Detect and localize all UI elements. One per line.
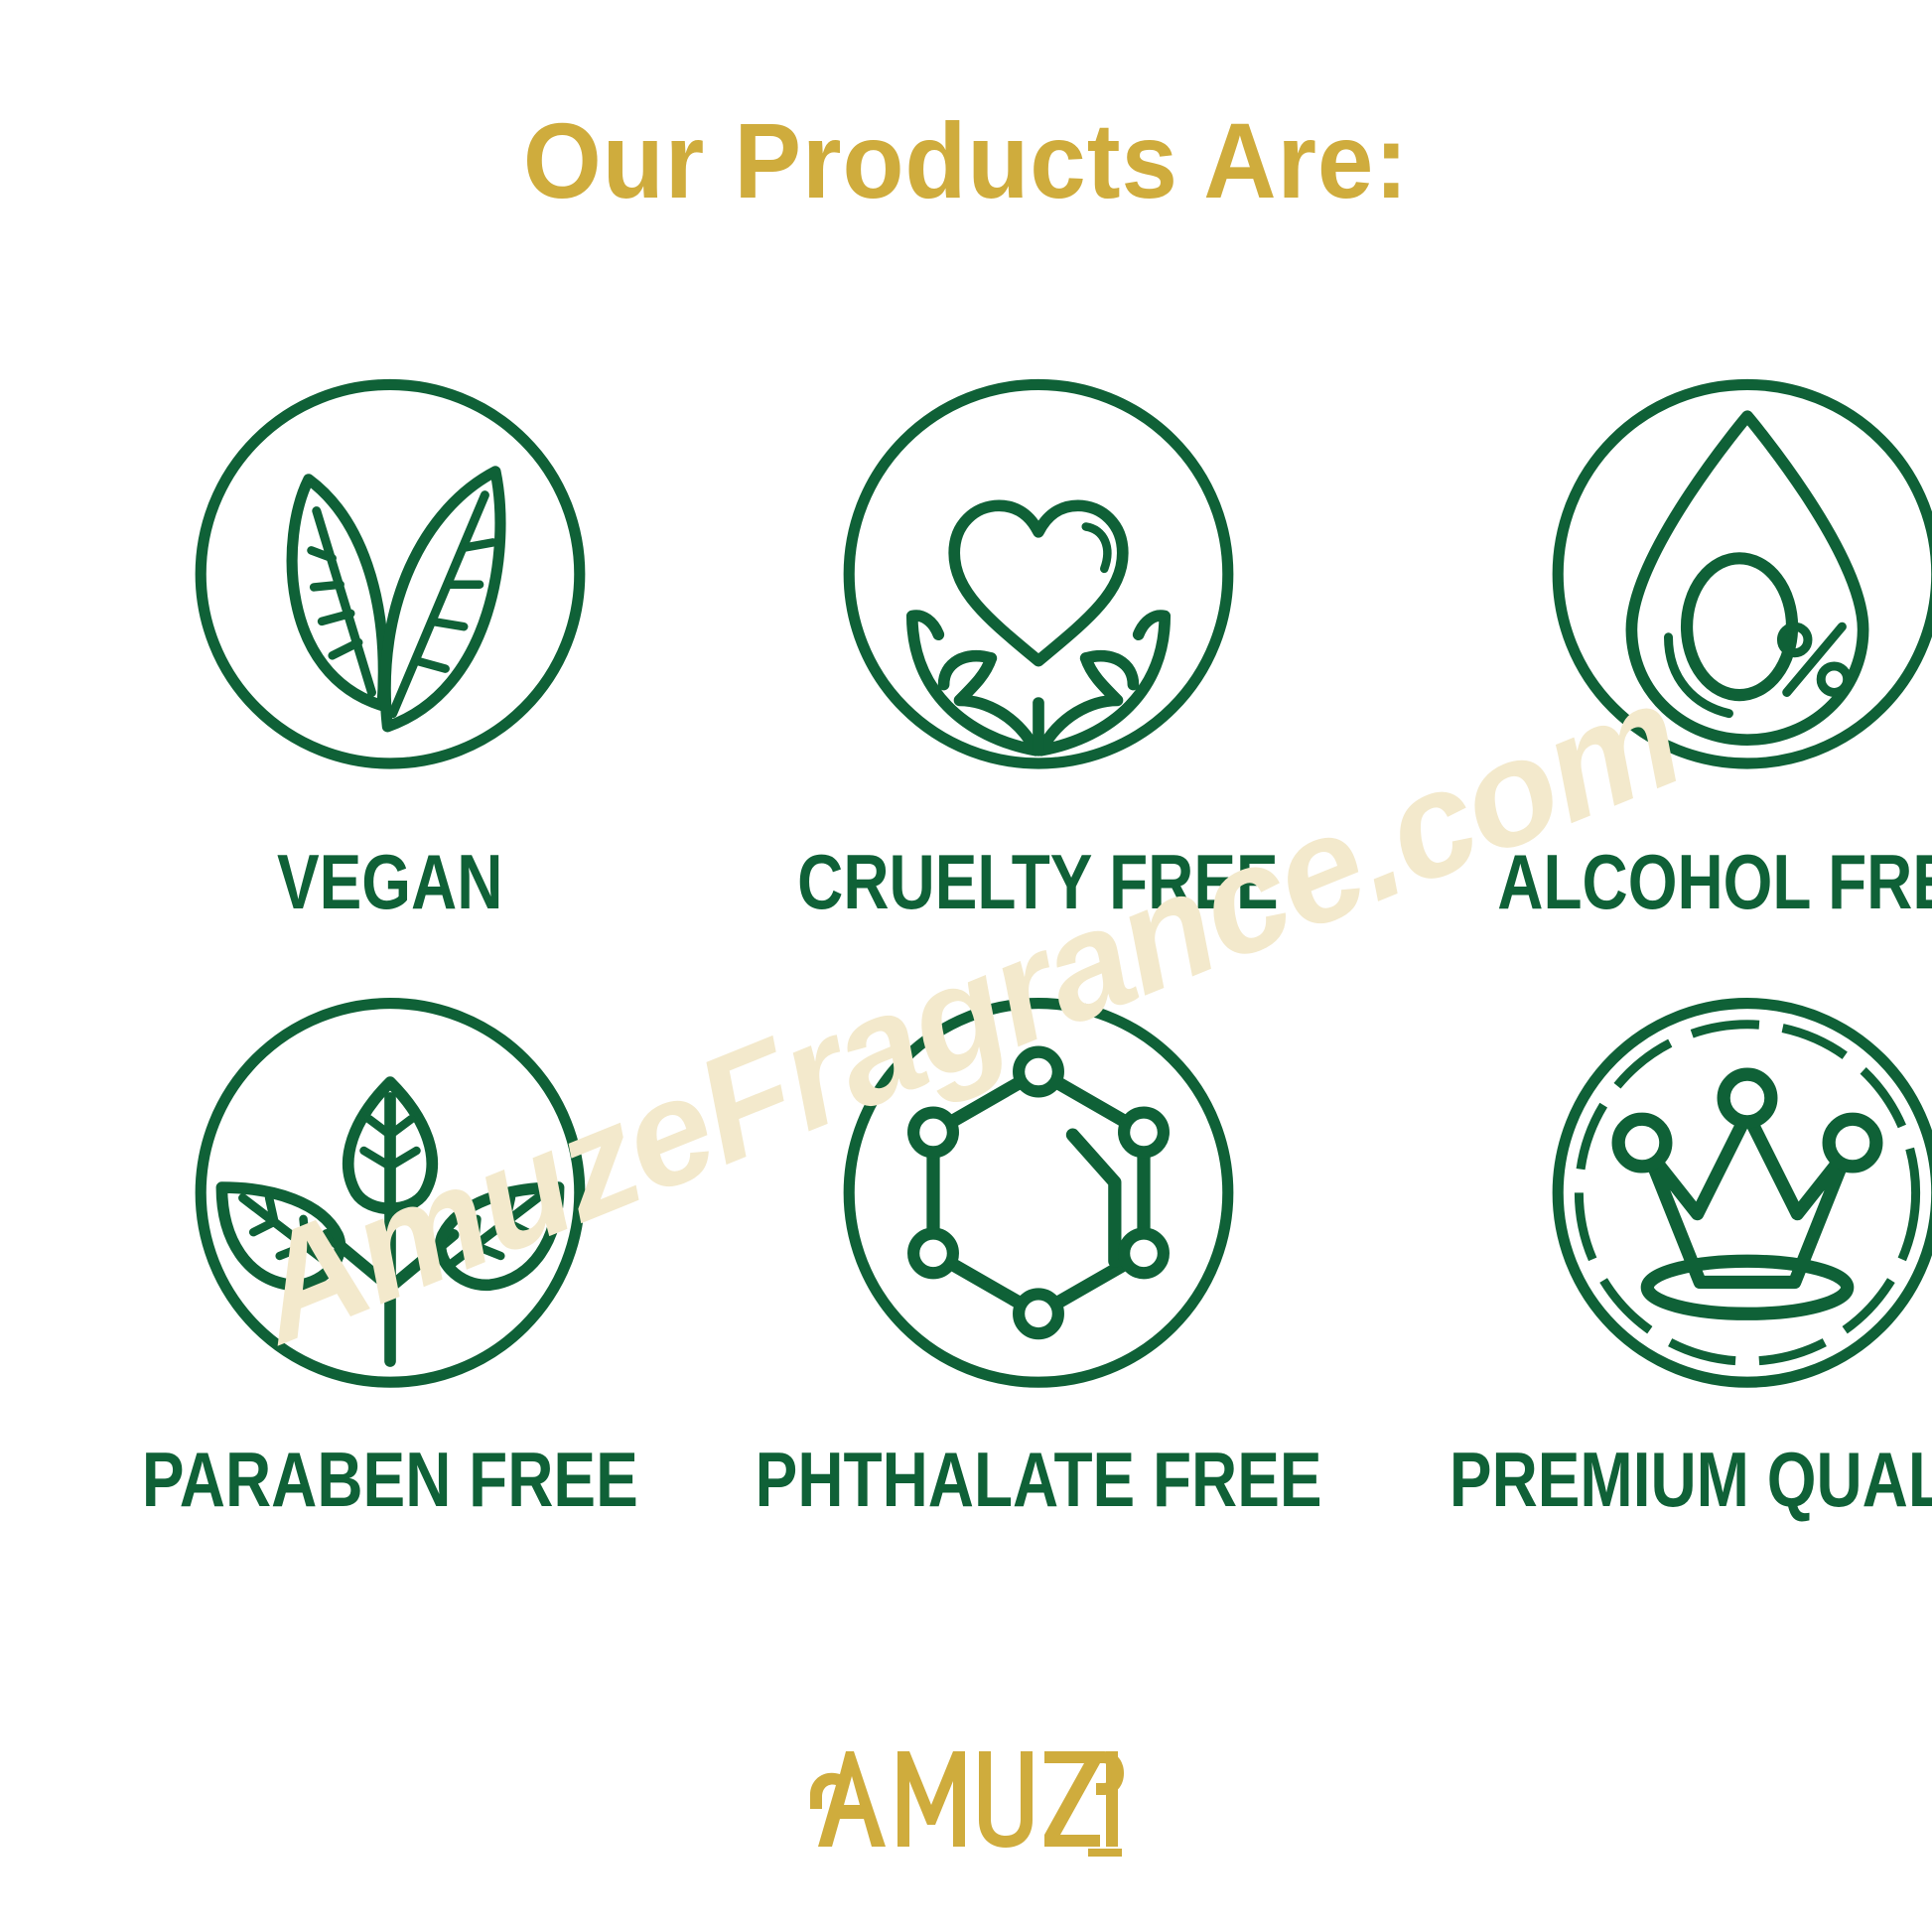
badge-label-phthalate-free: PHTHALATE FREE — [755, 1441, 1321, 1518]
badge-grid: VEGAN CRUELTY FREE — [87, 343, 1845, 1518]
badge-label-alcohol-free: ALCOHOL FREE — [1497, 843, 1932, 920]
badge-paraben-free: PARABEN FREE — [87, 940, 693, 1518]
hexagon-molecule-icon — [775, 940, 1302, 1466]
badge-cruelty-free: CRUELTY FREE — [693, 343, 1384, 920]
badge-label-cruelty-free: CRUELTY FREE — [797, 843, 1278, 920]
crown-icon — [1484, 940, 1932, 1466]
badge-alcohol-free: ALCOHOL FREE — [1384, 343, 1932, 920]
badge-label-premium-quality: PREMIUM QUALITY — [1449, 1441, 1932, 1518]
badge-phthalate-free: PHTHALATE FREE — [693, 940, 1384, 1518]
amuze-logo-icon — [802, 1743, 1130, 1863]
badge-vegan: VEGAN — [87, 343, 693, 920]
page-title: Our Products Are: — [58, 107, 1873, 214]
badge-premium-quality: PREMIUM QUALITY — [1384, 940, 1932, 1518]
two-leaves-icon — [127, 343, 653, 869]
heart-in-hands-icon — [775, 343, 1302, 869]
water-droplet-zero-percent-icon — [1484, 343, 1932, 869]
badge-label-paraben-free: PARABEN FREE — [142, 1441, 638, 1518]
brand-logo — [0, 1743, 1932, 1863]
badge-label-vegan: VEGAN — [277, 843, 502, 920]
plant-sprig-icon — [127, 940, 653, 1466]
